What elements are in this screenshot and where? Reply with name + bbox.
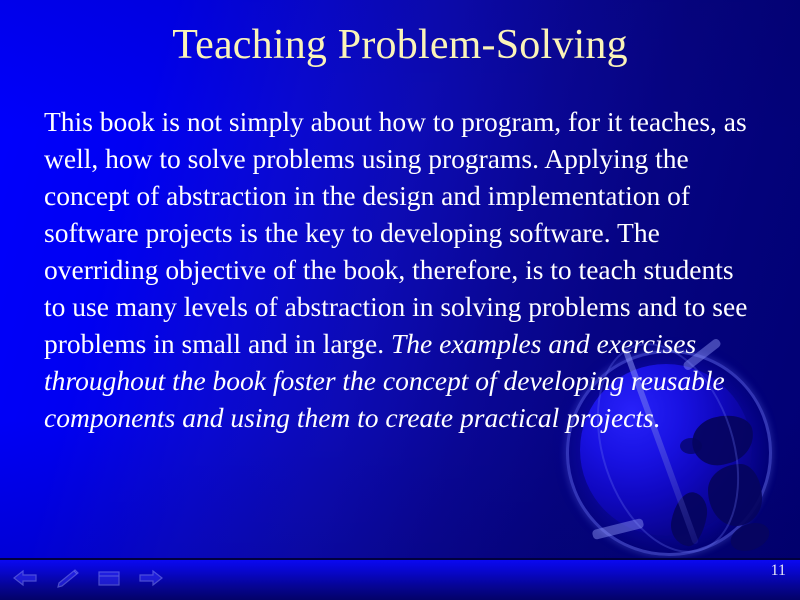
right-arrow-icon[interactable] xyxy=(138,568,164,588)
page-icon[interactable] xyxy=(96,568,122,588)
globe-landmass xyxy=(727,518,773,556)
slide-title: Teaching Problem-Solving xyxy=(0,20,800,70)
globe-landmass xyxy=(708,464,762,526)
presentation-slide: Teaching Problem-Solving This book is no… xyxy=(0,0,800,600)
body-paragraph-plain: This book is not simply about how to pro… xyxy=(44,106,747,359)
slide-body-text: This book is not simply about how to pro… xyxy=(44,103,756,436)
globe-landmass xyxy=(668,489,711,548)
slide-navigation-controls xyxy=(12,568,164,588)
globe-axis-cap-bottom xyxy=(592,518,645,540)
slide-footer-bar: 11 xyxy=(0,558,800,600)
pen-icon[interactable] xyxy=(54,568,80,588)
globe-landmass xyxy=(680,438,702,454)
left-arrow-icon[interactable] xyxy=(12,568,38,588)
page-number: 11 xyxy=(771,562,786,580)
